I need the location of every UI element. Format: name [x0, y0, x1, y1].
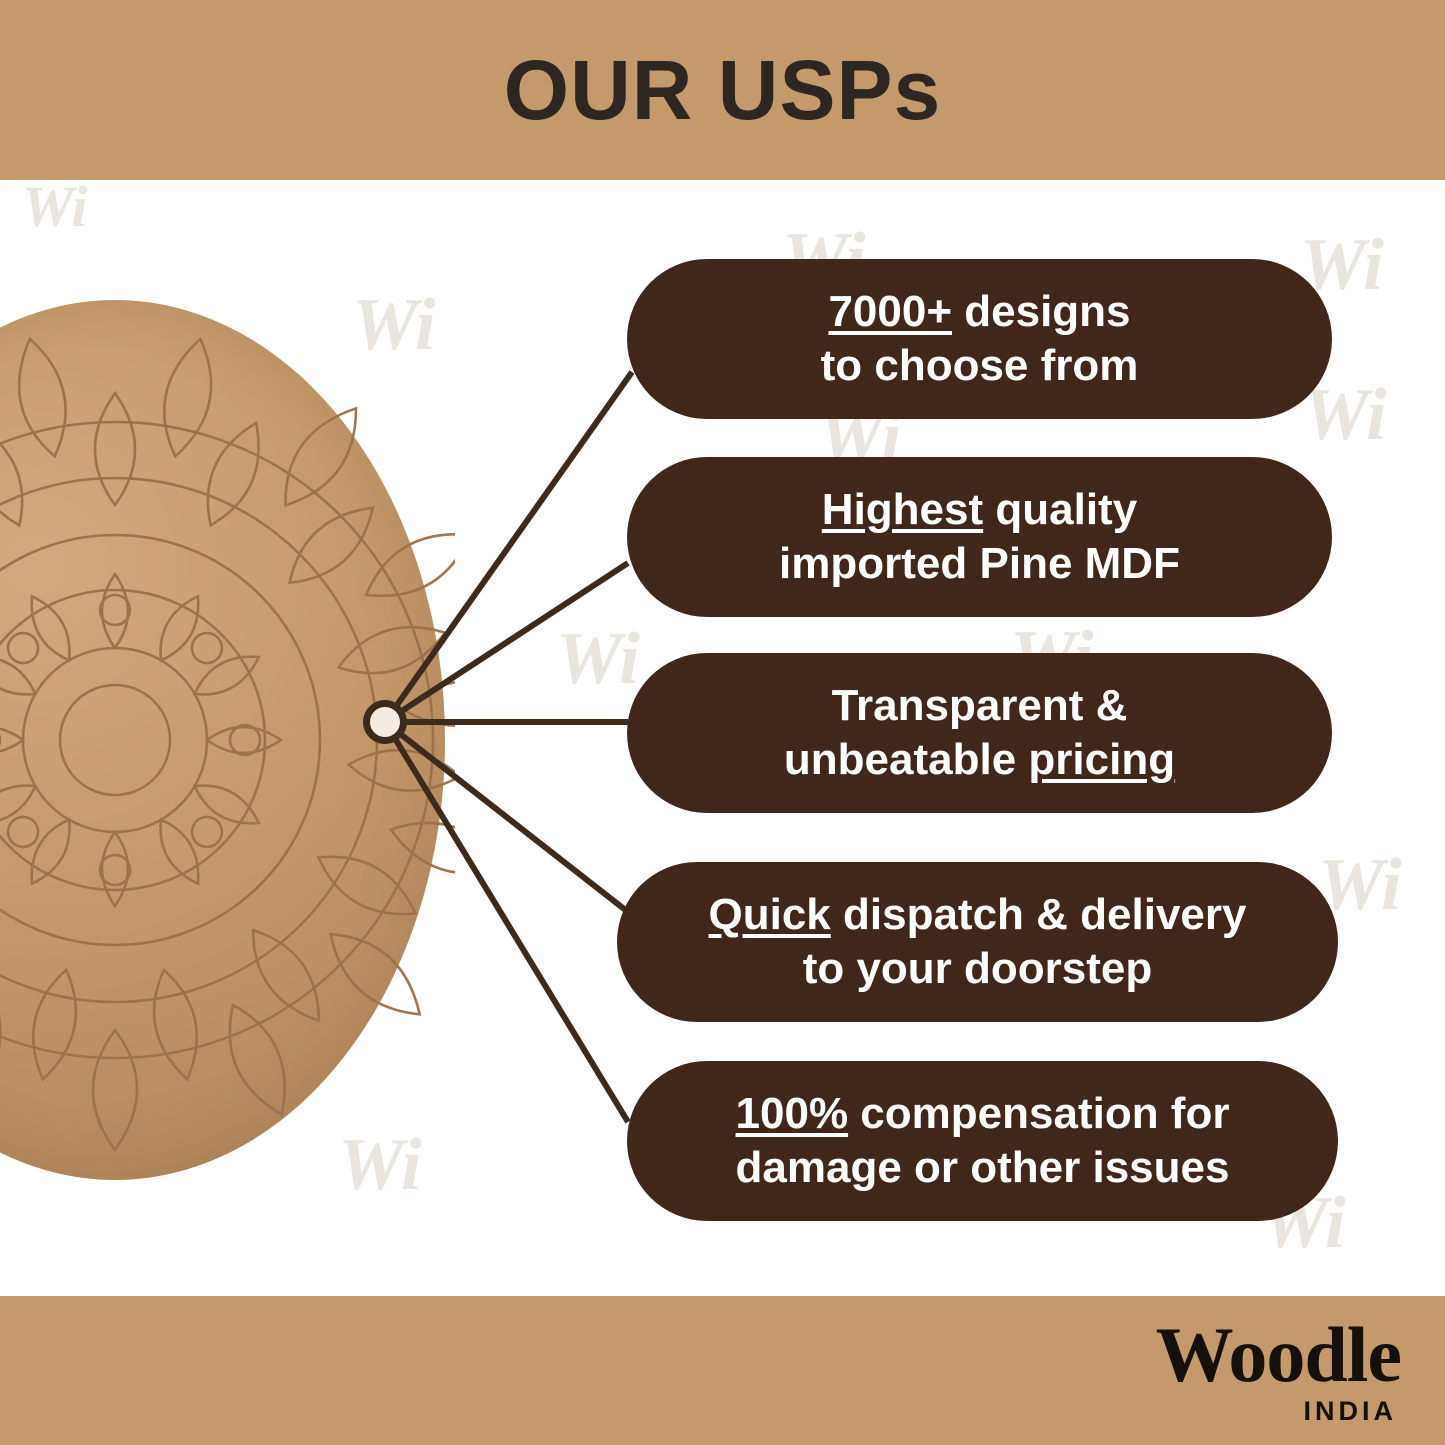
brand-name: Woodle: [1156, 1316, 1401, 1394]
usp-highlight: 100%: [736, 1089, 849, 1138]
usp-line2: to your doorstep: [803, 944, 1153, 993]
hub-node: [363, 700, 407, 744]
usp-infographic: Wi Wi Wi Wi Wi Wi Wi Wi Wi Wi Wi: [0, 0, 1445, 1445]
product-image-mandala-disc: [0, 300, 455, 1190]
usp-card-pricing: Transparent & unbeatable pricing: [627, 653, 1332, 813]
usp-line1-rest: designs: [952, 287, 1131, 336]
page-title: OUR USPs: [0, 0, 1445, 180]
usp-highlight: pricing: [1028, 735, 1175, 784]
brand-country: INDIA: [1156, 1398, 1397, 1425]
usp-card-compensation: 100% compensation for damage or other is…: [627, 1061, 1338, 1221]
usp-line1-rest: dispatch & delivery: [831, 890, 1247, 939]
usp-highlight: Highest: [822, 485, 983, 534]
watermark: Wi: [22, 178, 88, 236]
usp-highlight: 7000+: [828, 287, 952, 336]
usp-line1: Transparent &: [832, 681, 1128, 730]
usp-line1-rest: compensation for: [848, 1089, 1229, 1138]
brand-logo: Woodle INDIA: [1156, 1316, 1401, 1425]
usp-line1-rest: quality: [983, 485, 1137, 534]
usp-highlight: Quick: [709, 890, 831, 939]
usp-line2: damage or other issues: [736, 1143, 1230, 1192]
usp-card-dispatch: Quick dispatch & delivery to your doorst…: [617, 862, 1338, 1022]
watermark: Wi: [556, 622, 640, 696]
usp-card-quality: Highest quality imported Pine MDF: [627, 457, 1332, 617]
usp-line2: to choose from: [821, 341, 1139, 390]
mandala-engraving-icon: [0, 300, 455, 1190]
usp-card-designs: 7000+ designs to choose from: [627, 259, 1332, 419]
watermark: Wi: [1303, 378, 1387, 452]
usp-line2: imported Pine MDF: [779, 539, 1180, 588]
usp-line2-rest: unbeatable: [784, 735, 1029, 784]
